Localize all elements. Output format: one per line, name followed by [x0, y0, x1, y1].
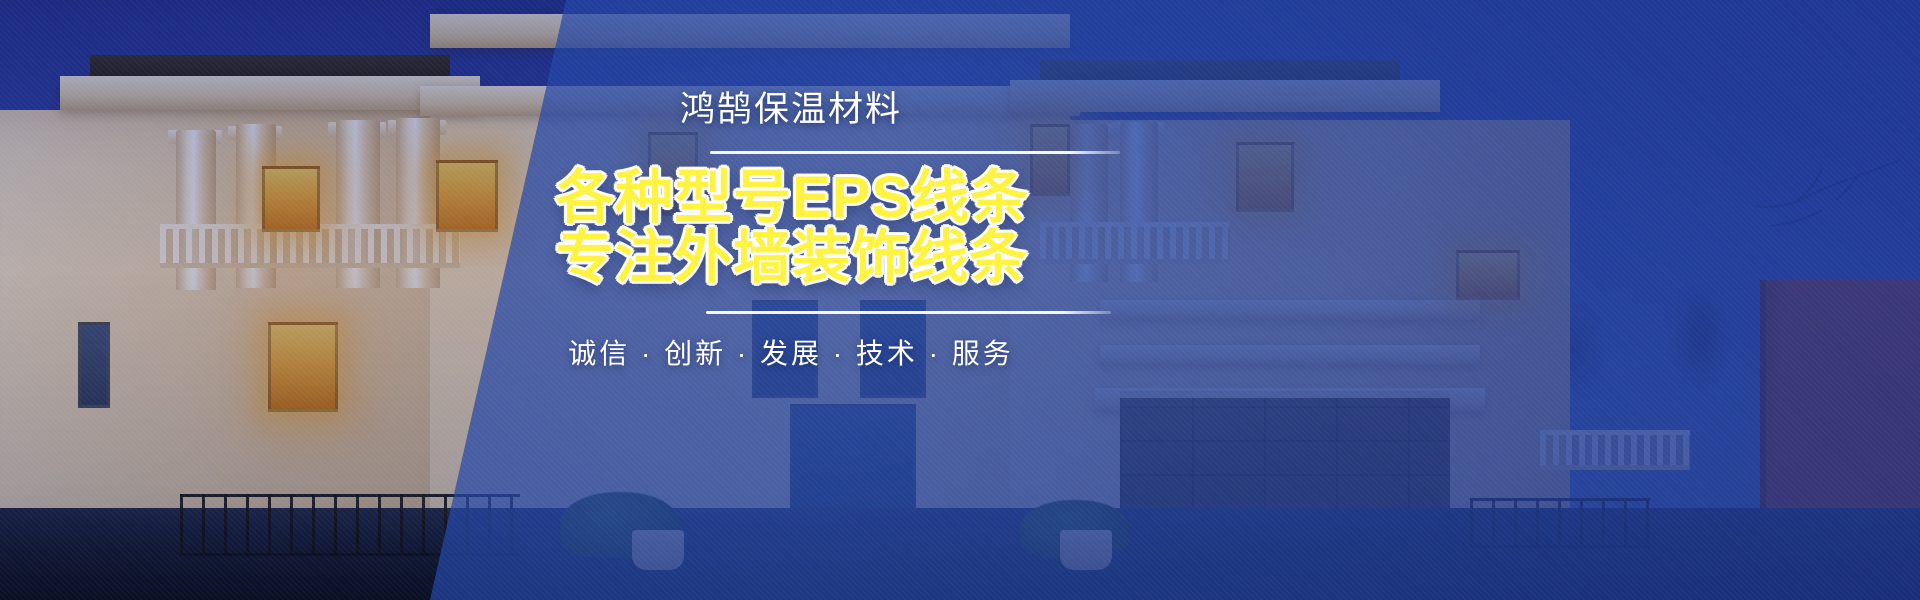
divider-top — [710, 151, 1120, 154]
headline: 各种型号EPS线条 专注外墙装饰线条 — [556, 168, 1026, 289]
promo-banner: 鸿鹄保温材料 各种型号EPS线条 专注外墙装饰线条 诚信 · 创新 · 发展 ·… — [0, 0, 1920, 600]
brand-name: 鸿鹄保温材料 — [556, 92, 1026, 127]
tagline: 诚信 · 创新 · 发展 · 技术 · 服务 — [556, 332, 1026, 372]
banner-text-block: 鸿鹄保温材料 各种型号EPS线条 专注外墙装饰线条 诚信 · 创新 · 发展 ·… — [556, 92, 1026, 372]
headline-line-1: 各种型号EPS线条 — [556, 165, 1029, 230]
headline-line-2: 专注外墙装饰线条 — [556, 228, 1026, 288]
divider-bottom — [706, 311, 1111, 314]
